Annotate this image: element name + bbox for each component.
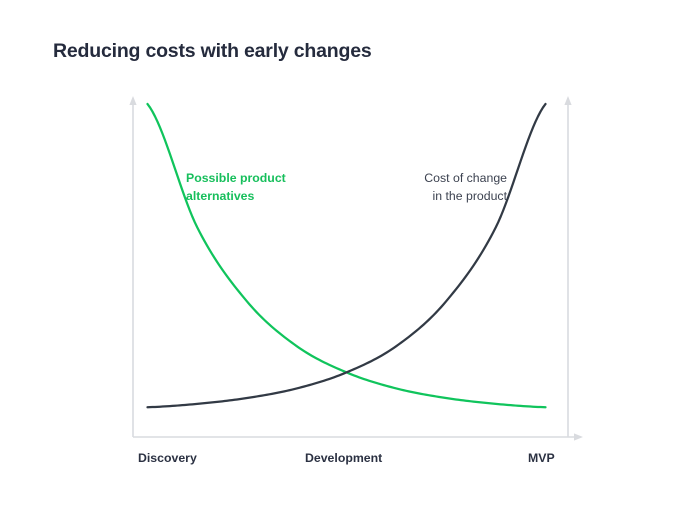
series-label-cost-of-change: Cost of change in the product xyxy=(424,170,507,205)
series-label-possible-product-alternatives: Possible product alternatives xyxy=(186,170,286,205)
series-label-line-2: in the product xyxy=(424,188,507,206)
series-label-line-1: Possible product xyxy=(186,170,286,188)
x-axis-tick-label-development: Development xyxy=(305,451,382,465)
x-axis-tick-label-discovery: Discovery xyxy=(138,451,197,465)
series-line-possible-product-alternatives xyxy=(148,104,546,407)
x-axis-tick-label-mvp: MVP xyxy=(528,451,555,465)
chart-plot-area xyxy=(0,0,700,511)
chart-container: Reducing costs with early changes Possib… xyxy=(0,0,700,511)
x-axis-arrowhead-icon xyxy=(574,433,583,440)
y-axis-left-arrowhead-icon xyxy=(129,96,136,105)
series-label-line-1: Cost of change xyxy=(424,170,507,188)
y-axis-right-arrowhead-icon xyxy=(564,96,571,105)
series-label-line-2: alternatives xyxy=(186,188,286,206)
series-line-cost-of-change xyxy=(148,104,546,407)
